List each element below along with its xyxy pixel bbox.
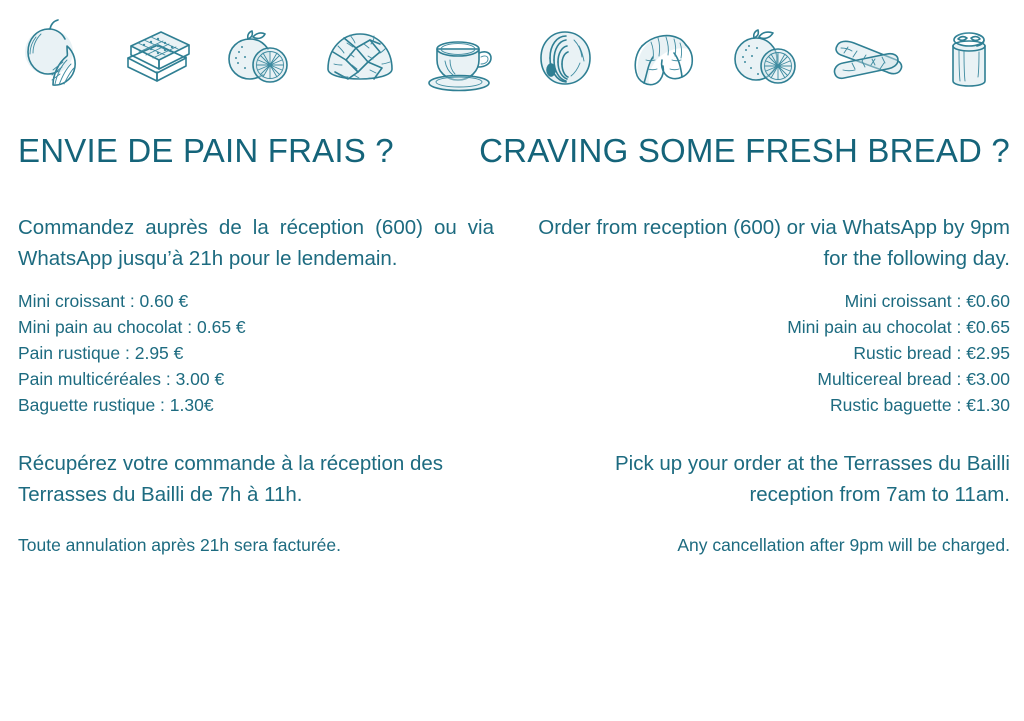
price-item: Pain rustique : 2.95 € bbox=[18, 340, 494, 366]
baguettes-icon bbox=[820, 10, 914, 106]
price-item: Pain multicéréales : 3.00 € bbox=[18, 366, 494, 392]
spacer bbox=[526, 418, 1010, 448]
price-item: Rustic bread : €2.95 bbox=[526, 340, 1010, 366]
price-item: Mini pain au chocolat : 0.65 € bbox=[18, 314, 494, 340]
pickup-instructions-english: Pick up your order at the Terrasses du B… bbox=[526, 448, 1010, 510]
price-item: Rustic baguette : €1.30 bbox=[526, 392, 1010, 418]
price-item: Mini pain au chocolat : €0.65 bbox=[526, 314, 1010, 340]
price-list-french: Mini croissant : 0.60 € Mini pain au cho… bbox=[18, 288, 494, 418]
price-item: Mini croissant : 0.60 € bbox=[18, 288, 494, 314]
bakery-order-notice-page: ENVIE DE PAIN FRAIS ? CRAVING SOME FRESH… bbox=[0, 0, 1024, 721]
apple-with-slice-icon bbox=[8, 10, 102, 106]
illustration-strip bbox=[0, 8, 1024, 108]
stacked-waffles-icon bbox=[110, 10, 204, 106]
rustic-bread-loaf-icon bbox=[313, 10, 407, 106]
cancellation-note-french: Toute annulation après 21h sera facturée… bbox=[18, 532, 494, 558]
order-instructions-english: Order from reception (600) or via WhatsA… bbox=[526, 212, 1010, 274]
column-french: Commandez auprès de la réception (600) o… bbox=[0, 212, 512, 558]
page-title-english: CRAVING SOME FRESH BREAD ? bbox=[479, 128, 1010, 174]
price-item: Multicereal bread : €3.00 bbox=[526, 366, 1010, 392]
pain-au-chocolat-icon bbox=[516, 10, 610, 106]
column-english: Order from reception (600) or via WhatsA… bbox=[512, 212, 1024, 558]
price-item: Mini croissant : €0.60 bbox=[526, 288, 1010, 314]
price-list-english: Mini croissant : €0.60 Mini pain au choc… bbox=[526, 288, 1010, 418]
orange-with-slice-icon bbox=[719, 10, 813, 106]
content-columns: Commandez auprès de la réception (600) o… bbox=[0, 212, 1024, 558]
croissant-icon bbox=[617, 10, 711, 106]
page-title-french: ENVIE DE PAIN FRAIS ? bbox=[18, 128, 394, 174]
price-item: Baguette rustique : 1.30€ bbox=[18, 392, 494, 418]
jam-jar-icon bbox=[922, 10, 1016, 106]
cancellation-note-english: Any cancellation after 9pm will be charg… bbox=[526, 532, 1010, 558]
pickup-instructions-french: Récupérez votre commande à la réception … bbox=[18, 448, 494, 510]
headings-row: ENVIE DE PAIN FRAIS ? CRAVING SOME FRESH… bbox=[0, 128, 1024, 184]
coffee-cup-and-saucer-icon bbox=[414, 10, 508, 106]
lemon-with-slice-icon bbox=[211, 10, 305, 106]
spacer bbox=[18, 418, 494, 448]
order-instructions-french: Commandez auprès de la réception (600) o… bbox=[18, 212, 494, 274]
